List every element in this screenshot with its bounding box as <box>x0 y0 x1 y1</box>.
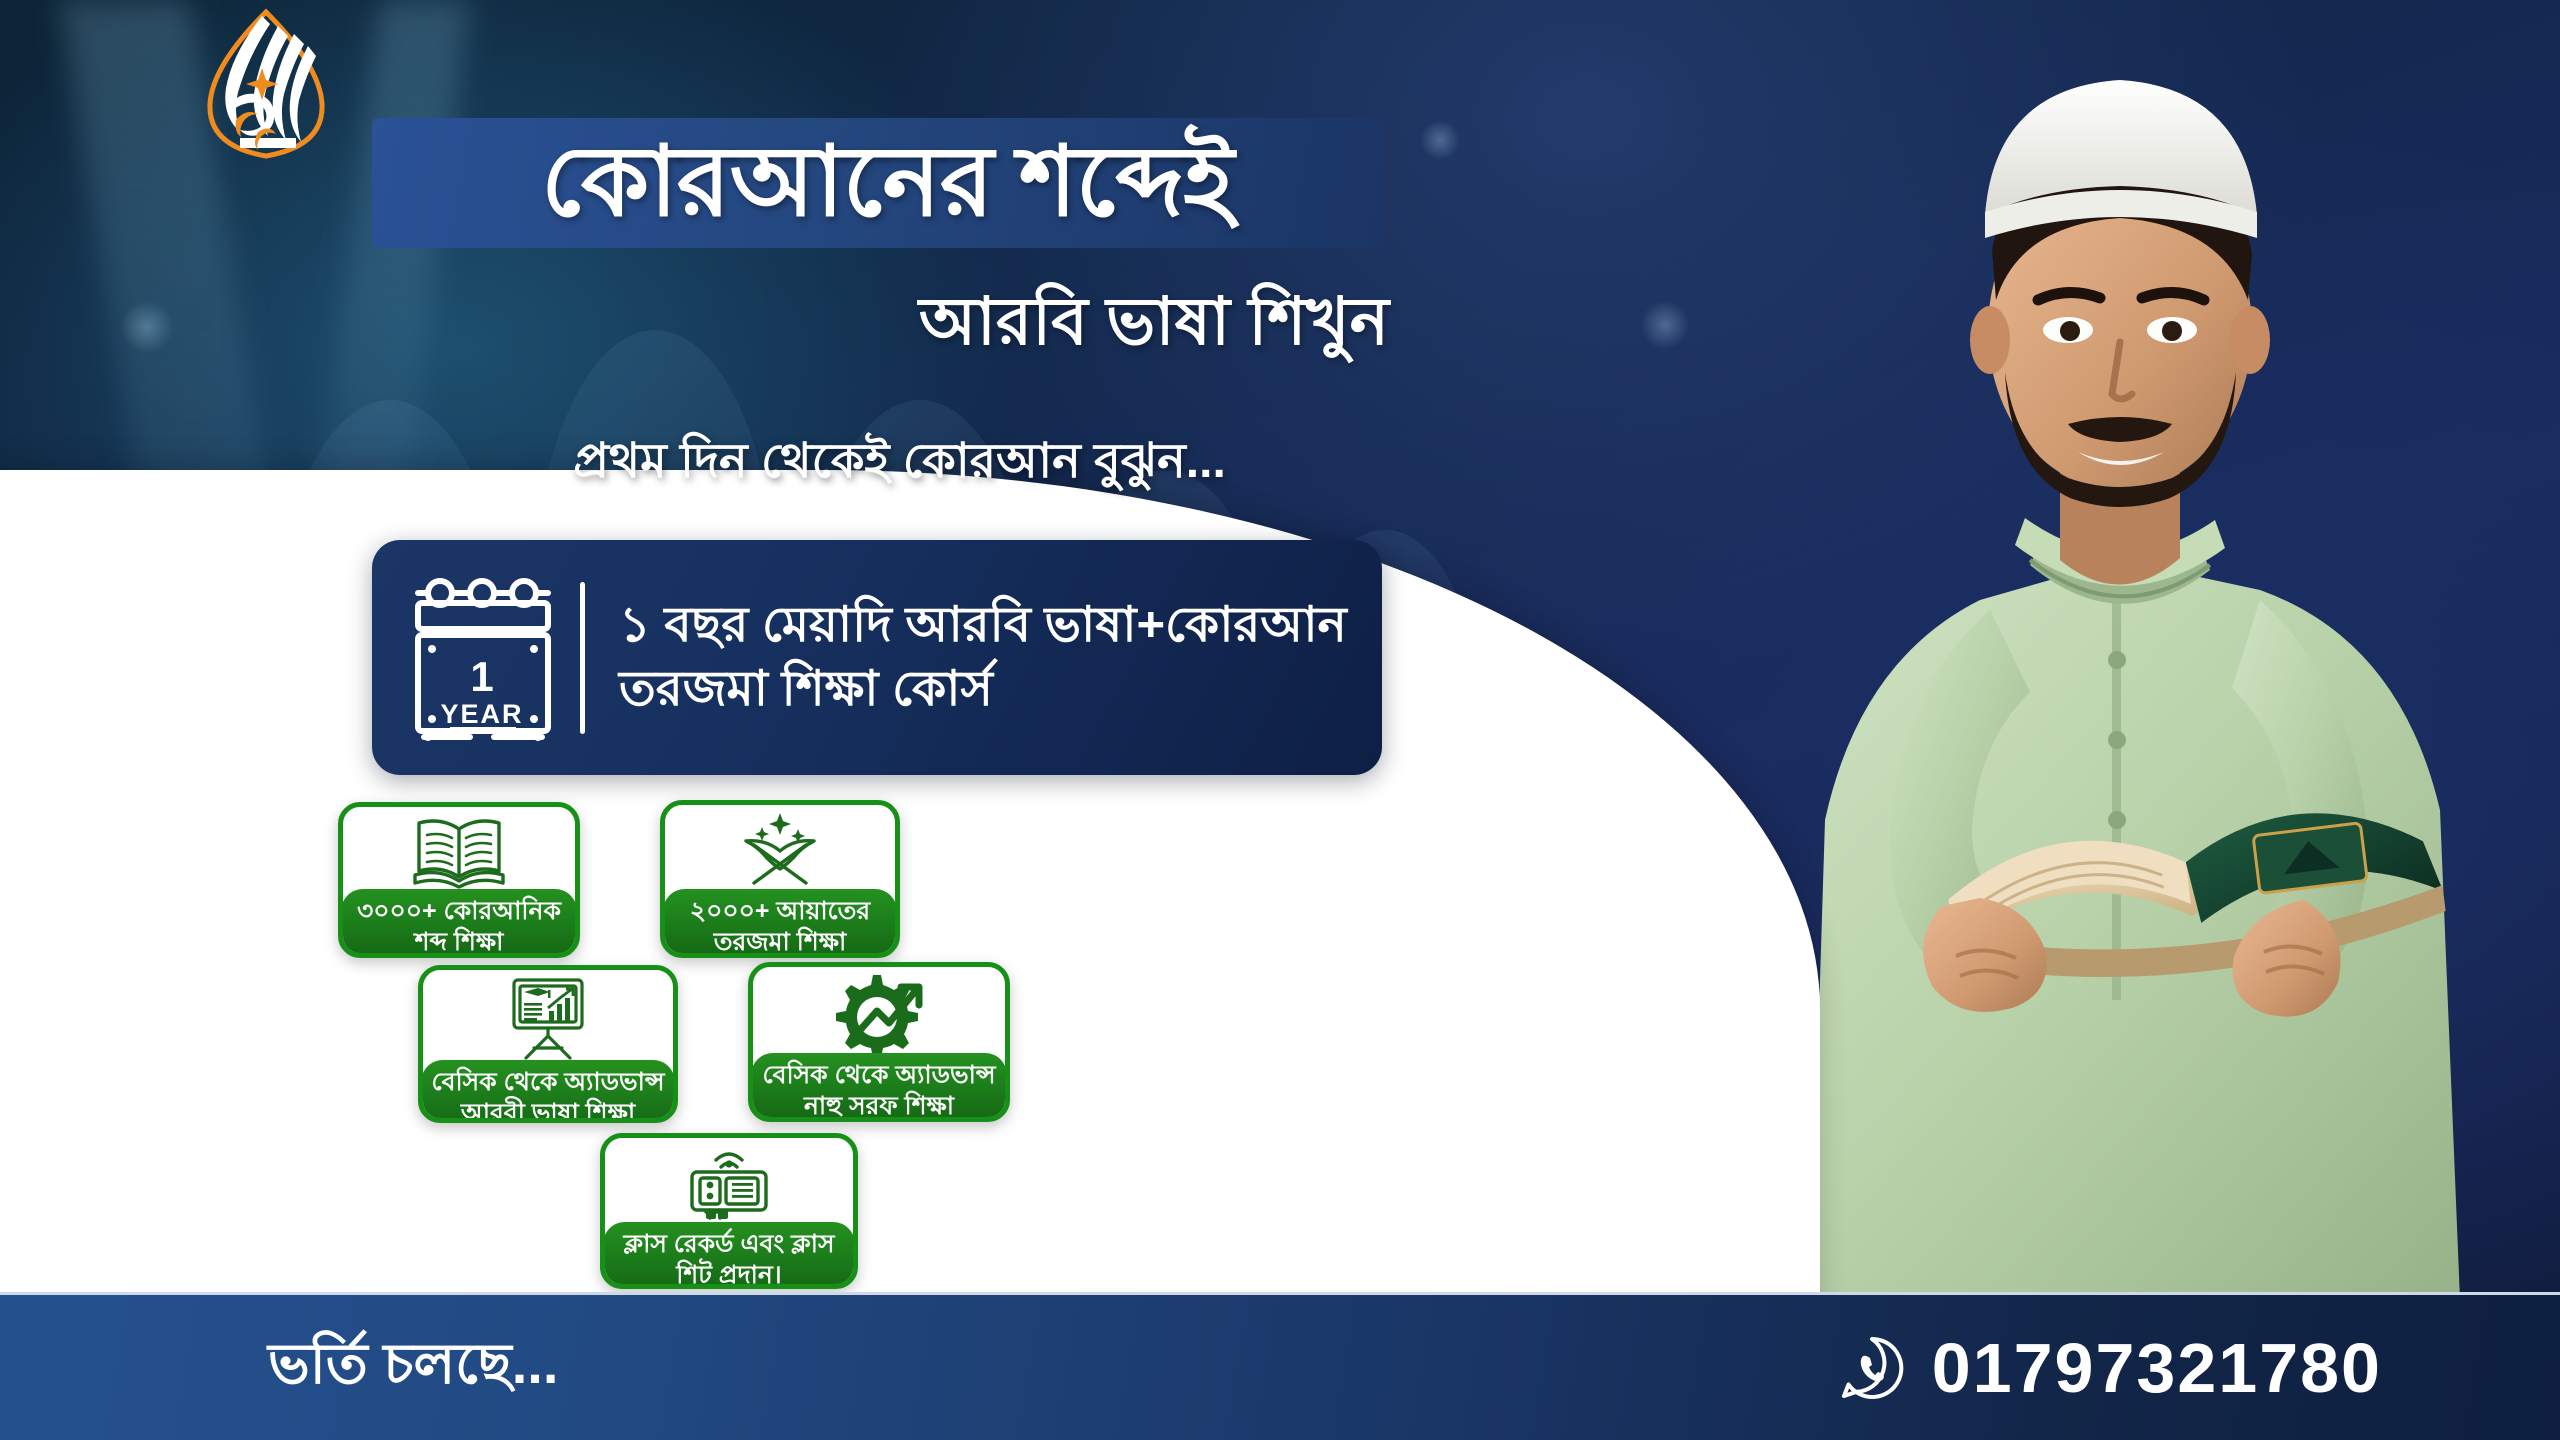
feature-icon-wrapper <box>665 805 895 889</box>
bokeh-light <box>1420 120 1460 160</box>
whatsapp-icon[interactable] <box>1838 1334 1906 1402</box>
online-class-record-icon <box>684 1144 774 1222</box>
presentation-board-icon <box>504 976 592 1060</box>
bokeh-light <box>120 300 174 354</box>
calendar-1-year-icon: 1 YEAR <box>406 573 558 743</box>
feature-icon-wrapper <box>605 1138 853 1222</box>
feature-card[interactable]: ক্লাস রেকর্ড এবং ক্লাস শিট প্রদান। <box>600 1133 858 1289</box>
phone-number[interactable]: 01797321780 <box>1932 1328 2382 1408</box>
contact-block[interactable]: 01797321780 <box>1838 1328 2382 1408</box>
promotional-banner: কোরআনের শব্দেই আরবি ভাষা শিখুন প্রথম দিন… <box>0 0 2560 1440</box>
admission-status-text: ভর্তি চলছে... <box>268 1321 558 1415</box>
feature-icon-wrapper <box>753 967 1005 1053</box>
hero-tagline: প্রথম দিন থেকেই কোরআন বুঝুন... <box>392 425 1407 504</box>
divider <box>580 582 585 734</box>
footer-bar: ভর্তি চলছে... 01797321780 <box>0 1292 2560 1440</box>
feature-label: ২০০০+ আয়াতের তরজমা শিক্ষা <box>663 889 897 958</box>
feature-card[interactable]: বেসিক থেকে অ্যাডভান্স নাহু সরফ শিক্ষা <box>748 962 1010 1122</box>
calendar-year-label: YEAR <box>440 699 523 729</box>
headline-line-2: আরবি ভাষা শিখুন <box>392 285 1407 358</box>
headline-line-1: কোরআনের শব্দেই <box>392 130 1382 234</box>
feature-card[interactable]: বেসিক থেকে অ্যাডভান্স আরবী ভাষা শিক্ষা <box>418 965 678 1123</box>
gear-growth-arrow-icon <box>833 973 925 1053</box>
course-highlight-box: 1 YEAR ১ বছর মেয়াদি আরবি ভাষা+কোরআন তরজ… <box>372 540 1382 775</box>
arabic-calligraphy-flame-logo <box>196 8 336 160</box>
open-book-icon <box>411 813 507 889</box>
feature-card[interactable]: ৩০০০+ কোরআনিক শব্দ শিক্ষা <box>338 802 580 958</box>
feature-label: বেসিক থেকে অ্যাডভান্স আরবী ভাষা শিক্ষা <box>421 1060 675 1123</box>
feature-label: ক্লাস রেকর্ড এবং ক্লাস শিট প্রদান। <box>603 1222 855 1289</box>
feature-icon-wrapper <box>343 807 575 889</box>
course-title: ১ বছর মেয়াদি আরবি ভাষা+কোরআন তরজমা শিক্… <box>619 594 1348 721</box>
quran-on-stand-icon <box>732 811 828 889</box>
feature-icon-wrapper <box>423 970 673 1060</box>
calendar-year-number: 1 <box>470 653 493 700</box>
feature-label: ৩০০০+ কোরআনিক শব্দ শিক্ষা <box>341 889 577 958</box>
feature-label: বেসিক থেকে অ্যাডভান্স নাহু সরফ শিক্ষা <box>751 1053 1007 1122</box>
feature-card[interactable]: ২০০০+ আয়াতের তরজমা শিক্ষা <box>660 800 900 958</box>
